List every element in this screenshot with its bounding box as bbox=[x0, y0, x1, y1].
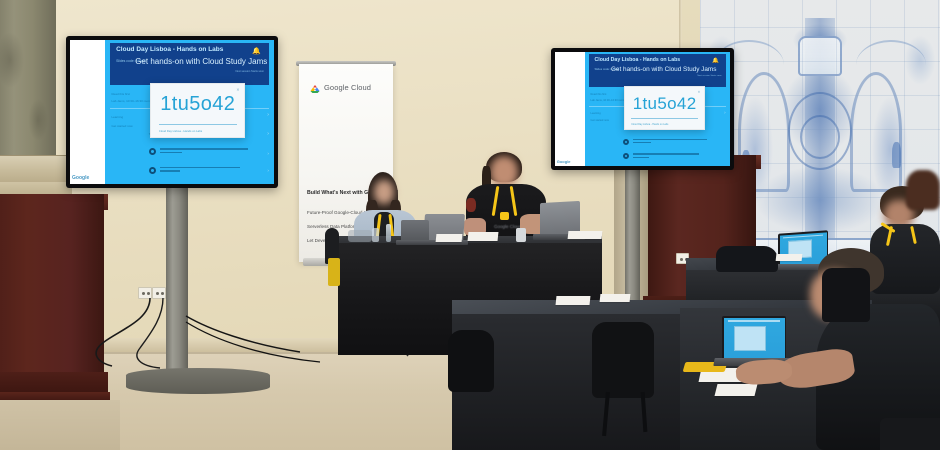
list-item[interactable] bbox=[623, 139, 707, 146]
list-item[interactable] bbox=[149, 167, 240, 174]
slide-row-label-4: Get started now bbox=[591, 119, 609, 122]
slide-row-label-3: Learning bbox=[111, 115, 123, 119]
badge bbox=[500, 212, 509, 220]
paper-sheet bbox=[600, 294, 631, 302]
hero-corner-note: Next session Starts soon bbox=[697, 75, 721, 77]
list-item-text bbox=[160, 148, 248, 155]
table-props bbox=[348, 230, 372, 242]
phone-on-table bbox=[516, 228, 526, 242]
slide-row-label-2: Lab Jams, 10:30–16:30 room bbox=[591, 99, 625, 102]
hero-title: Cloud Day Lisboa - Hands on Labs bbox=[116, 46, 223, 53]
lab-code-dialog: ✕ 1tu5o42 Cloud Day Lisboa - Hands on La… bbox=[150, 83, 245, 138]
laptop-screen-content bbox=[724, 318, 785, 361]
circle-check-icon bbox=[149, 167, 156, 174]
wall-outlet-left-b bbox=[152, 287, 166, 299]
paper-sheet bbox=[556, 296, 591, 305]
drink-cup bbox=[372, 228, 379, 242]
list-item-text bbox=[160, 167, 240, 174]
slide-row-label-1: Read this first bbox=[111, 92, 129, 96]
bell-icon: 🔔 bbox=[252, 47, 261, 55]
water-bottle bbox=[386, 224, 391, 242]
chevron-right-icon[interactable]: › bbox=[724, 110, 726, 115]
chair-back-right[interactable] bbox=[822, 268, 870, 322]
list-item-text bbox=[633, 139, 707, 146]
laptop-lid-left-2 bbox=[401, 220, 429, 242]
left-plinth bbox=[0, 194, 104, 400]
bell-icon: 🔔 bbox=[712, 58, 719, 64]
chair-left[interactable] bbox=[448, 330, 494, 392]
lab-code: 1tu5o42 bbox=[151, 93, 244, 116]
chevron-right-icon[interactable]: › bbox=[267, 112, 269, 118]
google-cloud-icon bbox=[309, 82, 321, 93]
close-icon[interactable]: ✕ bbox=[236, 87, 239, 92]
slide-row-label-2: Lab Jams, 10:30–16:30 room bbox=[111, 99, 150, 103]
laptop-window bbox=[734, 326, 766, 351]
list-item[interactable] bbox=[149, 148, 248, 155]
right-tv-screen: Cloud Day Lisboa - Hands on Labs Slides … bbox=[555, 52, 730, 166]
stone-column-shaft bbox=[0, 0, 56, 160]
slide-row-label-1: Read this first bbox=[591, 93, 607, 96]
floor-foreground-left bbox=[0, 400, 120, 450]
chair-center[interactable] bbox=[592, 322, 654, 398]
paper-sheet bbox=[715, 384, 758, 396]
paper-sheet bbox=[568, 231, 603, 239]
slide-hero-banner: Cloud Day Lisboa - Hands on Labs Slides … bbox=[589, 54, 726, 87]
banner-logo: Google Cloud bbox=[309, 82, 371, 93]
list-item-text bbox=[633, 153, 699, 160]
left-tv-stand-base bbox=[126, 368, 270, 394]
hero-headline: Get hands-on with Cloud Study Jams bbox=[611, 66, 717, 73]
slide-margin bbox=[70, 40, 105, 184]
jacket-on-desk bbox=[716, 246, 778, 272]
slide-content: Cloud Day Lisboa - Hands on Labs Slides … bbox=[585, 52, 730, 166]
chevron-right-icon[interactable]: › bbox=[267, 131, 269, 137]
slide-hero-banner: Cloud Day Lisboa - Hands on Labs Slides … bbox=[110, 43, 269, 85]
sleeve-accent bbox=[466, 198, 476, 212]
list-item[interactable] bbox=[623, 153, 699, 160]
code-input-underline[interactable] bbox=[631, 118, 698, 119]
google-logo: Google bbox=[557, 159, 571, 164]
conference-room-photo: Cloud Day Lisboa - Hands on Labs Slides … bbox=[0, 0, 940, 450]
column-base-moulding bbox=[0, 155, 68, 185]
slide-left: Cloud Day Lisboa - Hands on Labs Slides … bbox=[70, 40, 274, 184]
laptop-front-attendee bbox=[722, 316, 786, 362]
left-tv: Cloud Day Lisboa - Hands on Labs Slides … bbox=[66, 36, 278, 188]
attendee-far-back bbox=[906, 170, 940, 210]
lab-code: 1tu5o42 bbox=[625, 94, 704, 114]
slide-content: Cloud Day Lisboa - Hands on Labs Slides … bbox=[105, 40, 274, 184]
circle-check-icon bbox=[623, 153, 629, 159]
chevron-right-icon[interactable]: › bbox=[267, 151, 269, 156]
slide-right: Cloud Day Lisboa - Hands on Labs Slides … bbox=[555, 52, 730, 166]
hero-title: Cloud Day Lisboa - Hands on Labs bbox=[595, 57, 681, 63]
code-input-underline[interactable] bbox=[159, 124, 237, 125]
google-logo: Google bbox=[72, 175, 89, 181]
left-tv-screen: Cloud Day Lisboa - Hands on Labs Slides … bbox=[70, 40, 274, 184]
hero-headline: Get hands-on with Cloud Study Jams bbox=[135, 57, 267, 66]
right-tv: Cloud Day Lisboa - Hands on Labs Slides … bbox=[551, 48, 734, 170]
hero-corner-note: Next session Starts soon bbox=[235, 70, 264, 73]
code-input-hint: Cloud Day Lisboa - Hands on Labs bbox=[159, 129, 237, 133]
laptop-base-left-2 bbox=[396, 240, 432, 245]
paper-sheet bbox=[468, 232, 499, 241]
circle-check-icon bbox=[149, 148, 156, 155]
yellow-chair bbox=[328, 258, 340, 286]
code-input-hint: Cloud Day Lisboa - Hands on Labs bbox=[631, 123, 698, 126]
circle-check-icon bbox=[623, 139, 629, 145]
slide-margin bbox=[555, 52, 585, 166]
lab-code-dialog: ✕ 1tu5o42 Cloud Day Lisboa - Hands on La… bbox=[624, 86, 705, 129]
paper-sheet bbox=[436, 234, 463, 242]
wall-outlet-left-a bbox=[138, 287, 152, 299]
slide-row-label-3: Learning bbox=[591, 112, 601, 115]
banner-logo-text: Google Cloud bbox=[324, 83, 371, 92]
left-tv-stand-pole bbox=[166, 180, 188, 376]
slide-row-label-4: Get started now bbox=[111, 124, 132, 128]
chevron-right-icon[interactable]: › bbox=[267, 168, 269, 173]
foreground-shadow bbox=[880, 418, 940, 450]
